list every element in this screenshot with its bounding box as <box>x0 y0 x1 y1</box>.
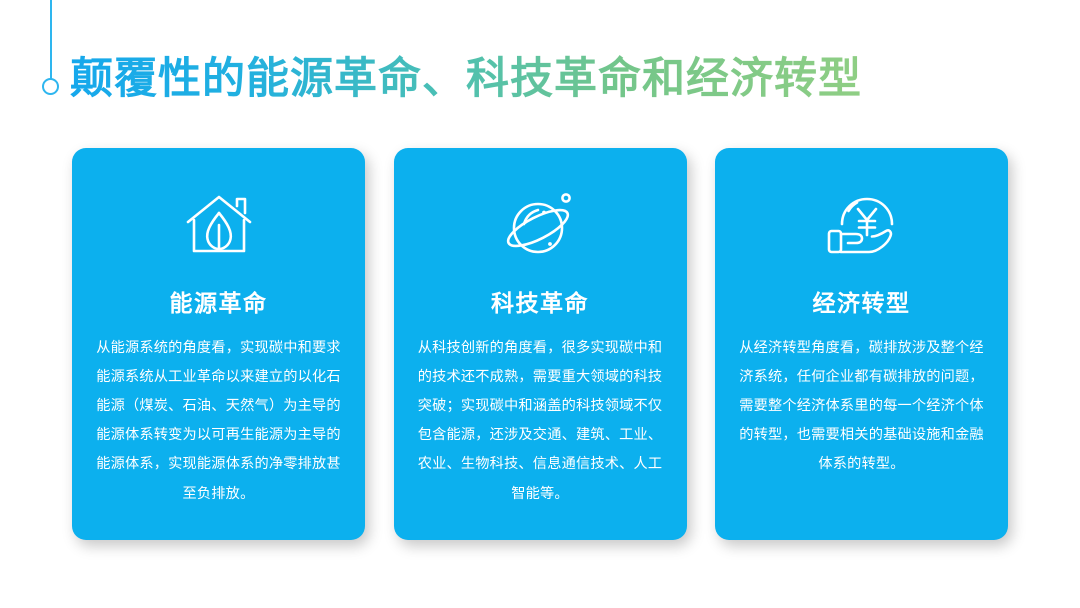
card-body: 从科技创新的角度看，很多实现碳中和的技术还不成熟，需要重大领域的科技突破；实现碳… <box>416 334 665 509</box>
card-row: 能源革命 从能源系统的角度看，实现碳中和要求能源系统从工业革命以来建立的以化石能… <box>72 148 1008 540</box>
card-title: 经济转型 <box>813 284 911 318</box>
slide-canvas: 颠覆性的能源革命、科技革命和经济转型 能源革命 从能源系统的角度看，实现碳中和要… <box>0 0 1080 608</box>
page-title: 颠覆性的能源革命、科技革命和经济转型 <box>70 55 862 104</box>
card-technology-revolution[interactable]: 科技革命 从科技创新的角度看，很多实现碳中和的技术还不成熟，需要重大领域的科技突… <box>394 148 687 540</box>
planet-orbit-icon <box>497 186 583 266</box>
accent-circle-icon <box>42 78 59 95</box>
hand-yen-coin-icon <box>819 186 905 266</box>
card-title: 科技革命 <box>491 284 589 318</box>
card-title: 能源革命 <box>170 284 268 318</box>
card-body: 从经济转型角度看，碳排放涉及整个经济系统，任何企业都有碳排放的问题，需要整个经济… <box>737 334 986 480</box>
house-leaf-icon <box>176 186 262 266</box>
vertical-accent-line <box>50 0 52 80</box>
card-economic-transition[interactable]: 经济转型 从经济转型角度看，碳排放涉及整个经济系统，任何企业都有碳排放的问题，需… <box>715 148 1008 540</box>
card-energy-revolution[interactable]: 能源革命 从能源系统的角度看，实现碳中和要求能源系统从工业革命以来建立的以化石能… <box>72 148 365 540</box>
card-body: 从能源系统的角度看，实现碳中和要求能源系统从工业革命以来建立的以化石能源（煤炭、… <box>94 334 343 509</box>
